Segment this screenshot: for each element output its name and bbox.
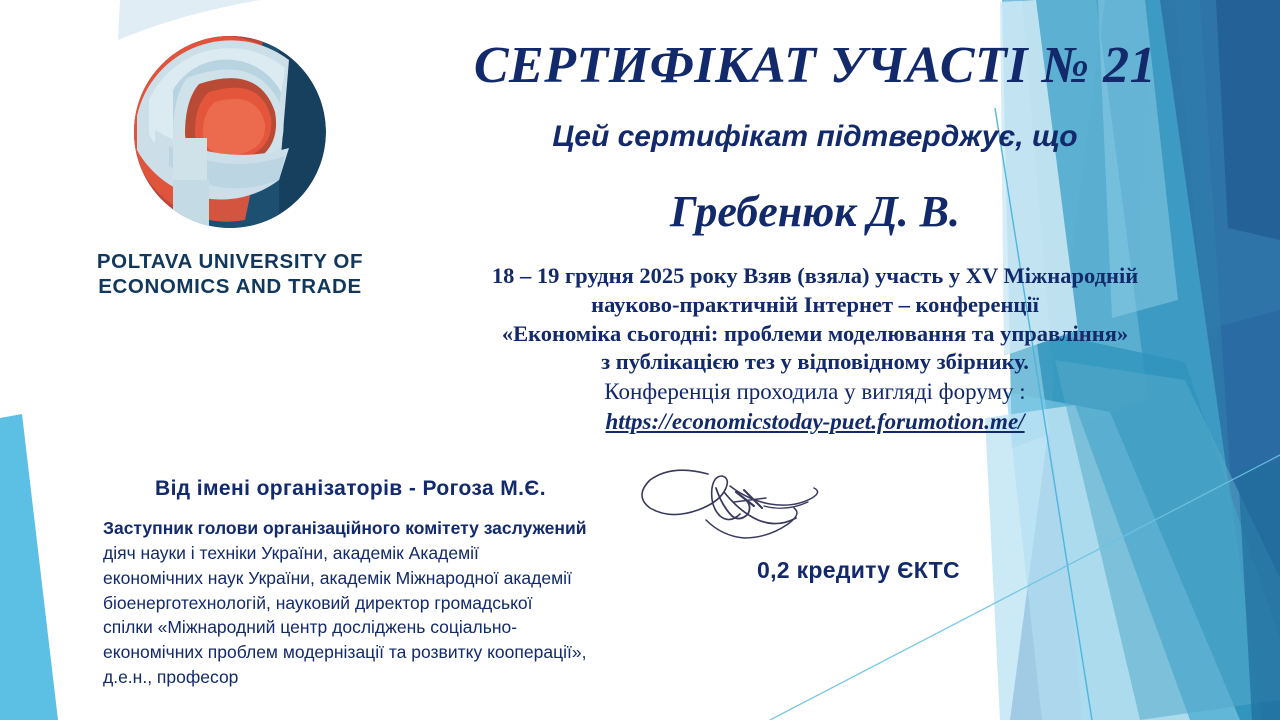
hairline-diagonal (770, 455, 1280, 720)
right-band-dark (1216, 0, 1280, 240)
sweep-triangle-d (1006, 392, 1240, 720)
ects-credits-value: 0,2 кредиту ЄКТС (757, 557, 960, 584)
conference-forum-link[interactable]: https://economicstoday-puet.forumotion.m… (605, 407, 1024, 436)
organizer-detail-line: діяч науки і техніки України, академік А… (103, 541, 733, 566)
certificate-title: СЕРТИФІКАТ УЧАСТІ № 21 (420, 36, 1210, 95)
left-wedge-shape (0, 414, 58, 720)
organizer-detail-line: економічних проблем модернізації та розв… (103, 640, 733, 665)
certificate-body: 18 – 19 грудня 2025 року Взяв (взяла) уч… (420, 262, 1210, 436)
organizer-detail-line: біоенерготехнологій, науковий директор г… (103, 591, 733, 616)
certificate-subtitle: Цей сертифікат підтверджує, що (420, 120, 1210, 154)
logo-organization-name: POLTAVA UNIVERSITY OF ECONOMICS AND TRAD… (40, 249, 420, 299)
body-line-3: «Економіка сьогодні: проблеми моделюванн… (420, 320, 1210, 349)
organizer-detail-line: спілки «Міжнародний центр досліджень соц… (103, 615, 733, 640)
organizer-details: Заступник голови організаційного комітет… (103, 516, 733, 690)
organizer-signature-label: Від імені організаторів - Рогоза М.Є. (155, 477, 546, 501)
forum-intro-line: Конференція проходила у вигляді форуму : (420, 377, 1210, 406)
right-band-dark-2 (1238, 462, 1280, 720)
organizer-detail-line: економічних наук України, академік Міжна… (103, 566, 733, 591)
recipient-name: Гребенюк Д. В. (420, 186, 1210, 237)
pale-overlay-b (985, 405, 1190, 720)
body-line-2: науково-практичній Інтернет – конференці… (420, 291, 1210, 320)
certificate-page: POLTAVA UNIVERSITY OF ECONOMICS AND TRAD… (0, 0, 1280, 720)
poltava-university-sphere-logo-icon (129, 30, 331, 235)
body-line-4: з публікацією тез у відповідному збірник… (420, 348, 1210, 377)
logo-block: POLTAVA UNIVERSITY OF ECONOMICS AND TRAD… (40, 30, 420, 299)
organizer-detail-line: Заступник голови організаційного комітет… (103, 516, 733, 541)
body-line-1: 18 – 19 грудня 2025 року Взяв (взяла) уч… (420, 262, 1210, 291)
organizer-detail-line: д.е.н., професор (103, 665, 733, 690)
forum-url-line: https://economicstoday-puet.forumotion.m… (420, 407, 1210, 437)
